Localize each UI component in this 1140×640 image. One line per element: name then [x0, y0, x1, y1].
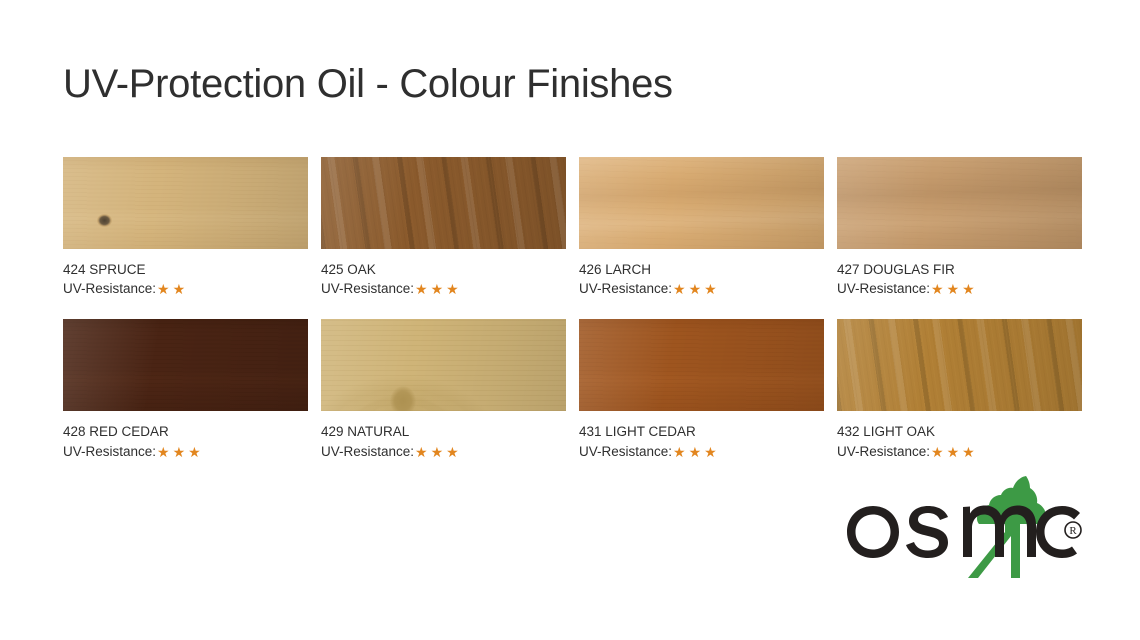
swatch-resistance-424: UV-Resistance:★★ — [63, 280, 308, 298]
uv-resistance-stars: ★★★ — [157, 444, 204, 458]
swatch-chip-425[interactable] — [321, 157, 566, 249]
wood-grain-bands — [321, 157, 566, 249]
star-icon: ★ — [157, 445, 170, 459]
swatch-name-424: 424 SPRUCE — [63, 261, 308, 279]
star-icon: ★ — [431, 445, 444, 459]
swatch-resistance-429: UV-Resistance:★★★ — [321, 443, 566, 461]
swatch-card-428[interactable]: 428 RED CEDARUV-Resistance:★★★ — [63, 319, 308, 460]
swatch-resistance-431: UV-Resistance:★★★ — [579, 443, 824, 461]
wood-grain-bands — [579, 319, 824, 411]
uv-resistance-stars: ★★★ — [931, 281, 978, 295]
swatch-name-432: 432 LIGHT OAK — [837, 423, 1082, 441]
swatch-chip-427[interactable] — [837, 157, 1082, 249]
wood-grain-lines — [321, 157, 566, 249]
star-icon: ★ — [188, 445, 201, 459]
star-icon: ★ — [704, 445, 717, 459]
swatch-card-429[interactable]: 429 NATURALUV-Resistance:★★★ — [321, 319, 566, 460]
star-icon: ★ — [962, 445, 975, 459]
uv-resistance-stars: ★★★ — [931, 444, 978, 458]
star-icon: ★ — [931, 445, 944, 459]
star-icon: ★ — [689, 282, 702, 296]
wood-grain-bands — [837, 319, 1082, 411]
resistance-label: UV-Resistance: — [321, 443, 414, 461]
svg-text:R: R — [1069, 525, 1077, 537]
star-icon: ★ — [962, 282, 975, 296]
swatch-chip-429[interactable] — [321, 319, 566, 411]
swatch-name-428: 428 RED CEDAR — [63, 423, 308, 441]
wood-grain-lines — [63, 157, 308, 249]
wood-grain-lines — [837, 319, 1082, 411]
wood-grain-bands — [63, 319, 308, 411]
resistance-label: UV-Resistance: — [63, 280, 156, 298]
swatch-card-432[interactable]: 432 LIGHT OAKUV-Resistance:★★★ — [837, 319, 1082, 460]
swatch-card-431[interactable]: 431 LIGHT CEDARUV-Resistance:★★★ — [579, 319, 824, 460]
star-icon: ★ — [704, 282, 717, 296]
uv-resistance-stars: ★★★ — [673, 281, 720, 295]
swatch-resistance-432: UV-Resistance:★★★ — [837, 443, 1082, 461]
swatch-name-429: 429 NATURAL — [321, 423, 566, 441]
star-icon: ★ — [931, 282, 944, 296]
wood-grain-bands — [837, 157, 1082, 249]
resistance-label: UV-Resistance: — [63, 443, 156, 461]
resistance-label: UV-Resistance: — [321, 280, 414, 298]
star-icon: ★ — [673, 445, 686, 459]
wood-grain-lines — [579, 319, 824, 411]
slide-canvas: UV-Protection Oil - Colour Finishes 424 … — [0, 0, 1140, 640]
wood-sheen — [579, 319, 824, 411]
swatch-chip-432[interactable] — [837, 319, 1082, 411]
swatch-chip-431[interactable] — [579, 319, 824, 411]
wood-knot — [390, 386, 416, 412]
wood-sheen — [63, 157, 308, 249]
resistance-label: UV-Resistance: — [579, 280, 672, 298]
swatch-card-425[interactable]: 425 OAKUV-Resistance:★★★ — [321, 157, 566, 298]
swatch-chip-424[interactable] — [63, 157, 308, 249]
wood-sheen — [63, 319, 308, 411]
swatch-chip-426[interactable] — [579, 157, 824, 249]
wood-knot — [97, 214, 112, 227]
wood-grain-bands — [579, 157, 824, 249]
resistance-label: UV-Resistance: — [837, 443, 930, 461]
swatch-name-431: 431 LIGHT CEDAR — [579, 423, 824, 441]
star-icon: ★ — [415, 445, 428, 459]
star-icon: ★ — [173, 445, 186, 459]
wood-grain-lines — [63, 319, 308, 411]
swatch-card-424[interactable]: 424 SPRUCEUV-Resistance:★★ — [63, 157, 308, 298]
swatch-resistance-426: UV-Resistance:★★★ — [579, 280, 824, 298]
star-icon: ★ — [415, 282, 428, 296]
star-icon: ★ — [446, 282, 459, 296]
swatch-card-426[interactable]: 426 LARCHUV-Resistance:★★★ — [579, 157, 824, 298]
swatch-resistance-427: UV-Resistance:★★★ — [837, 280, 1082, 298]
star-icon: ★ — [446, 445, 459, 459]
star-icon: ★ — [689, 445, 702, 459]
wood-sheen — [837, 157, 1082, 249]
resistance-label: UV-Resistance: — [837, 280, 930, 298]
star-icon: ★ — [947, 282, 960, 296]
uv-resistance-stars: ★★★ — [673, 444, 720, 458]
osmo-logo: R — [845, 468, 1085, 583]
wood-grain-bands — [321, 319, 566, 411]
swatch-card-427[interactable]: 427 DOUGLAS FIRUV-Resistance:★★★ — [837, 157, 1082, 298]
uv-resistance-stars: ★★★ — [415, 444, 462, 458]
swatch-name-427: 427 DOUGLAS FIR — [837, 261, 1082, 279]
osmo-wordmark — [847, 506, 1080, 559]
wood-sheen — [837, 319, 1082, 411]
star-icon: ★ — [173, 282, 186, 296]
swatch-resistance-425: UV-Resistance:★★★ — [321, 280, 566, 298]
swatch-name-425: 425 OAK — [321, 261, 566, 279]
swatch-resistance-428: UV-Resistance:★★★ — [63, 443, 308, 461]
page-title: UV-Protection Oil - Colour Finishes — [63, 62, 673, 107]
star-icon: ★ — [431, 282, 444, 296]
resistance-label: UV-Resistance: — [579, 443, 672, 461]
uv-resistance-stars: ★★★ — [415, 281, 462, 295]
colour-finish-grid: 424 SPRUCEUV-Resistance:★★425 OAKUV-Resi… — [63, 157, 1081, 461]
wood-sheen — [321, 157, 566, 249]
wood-grain-lines — [837, 157, 1082, 249]
wood-grain-bands — [63, 157, 308, 249]
wood-sheen — [321, 319, 566, 411]
registered-trademark-icon: R — [1065, 522, 1081, 538]
swatch-chip-428[interactable] — [63, 319, 308, 411]
star-icon: ★ — [157, 282, 170, 296]
star-icon: ★ — [947, 445, 960, 459]
wood-grain-lines — [321, 319, 566, 411]
wood-grain-lines — [579, 157, 824, 249]
wood-sheen — [579, 157, 824, 249]
star-icon: ★ — [673, 282, 686, 296]
uv-resistance-stars: ★★ — [157, 281, 188, 295]
swatch-name-426: 426 LARCH — [579, 261, 824, 279]
